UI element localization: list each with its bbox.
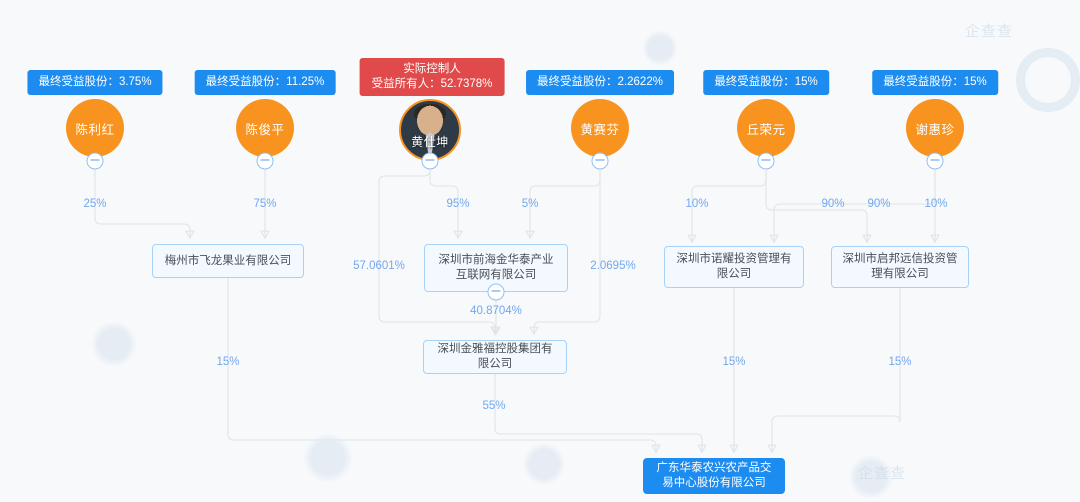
badge-qiu-rongyuan[interactable]: 最终受益股份：15% — [703, 70, 829, 95]
person-node-xie-huizhen[interactable]: 谢惠珍 — [906, 99, 964, 157]
collapse-toggle-huang-shikun[interactable] — [422, 153, 439, 170]
badge-xie-huizhen[interactable]: 最终受益股份：15% — [872, 70, 998, 95]
collapse-toggle-xie-huizhen[interactable] — [927, 153, 944, 170]
badge-huang-saifen[interactable]: 最终受益股份：2.2622% — [526, 70, 674, 95]
avatar-photo — [401, 101, 459, 159]
company-box-qibang[interactable]: 深圳市启邦远信投资管理有限公司 — [831, 246, 969, 288]
company-box-huatai[interactable]: 广东华泰农兴农产品交易中心股份有限公司 — [643, 458, 785, 494]
collapse-toggle-chen-lihong[interactable] — [87, 153, 104, 170]
badge-beneficial-owner-label: 受益所有人：52.7378% — [372, 77, 493, 92]
company-box-jinyafu[interactable]: 深圳金雅福控股集团有限公司 — [423, 340, 567, 374]
person-node-qiu-rongyuan[interactable]: 丘荣元 — [737, 99, 795, 157]
person-node-chen-junping[interactable]: 陈俊平 — [236, 99, 294, 157]
badge-huang-shikun[interactable]: 实际控制人 受益所有人：52.7378% — [360, 58, 505, 96]
badge-chen-lihong[interactable]: 最终受益股份：3.75% — [27, 70, 162, 95]
collapse-toggle-huang-saifen[interactable] — [592, 153, 609, 170]
person-node-chen-lihong[interactable]: 陈利红 — [66, 99, 124, 157]
badge-chen-junping[interactable]: 最终受益股份：11.25% — [195, 70, 336, 95]
collapse-toggle-chen-junping[interactable] — [257, 153, 274, 170]
person-node-huang-saifen[interactable]: 黄赛芬 — [571, 99, 629, 157]
company-box-nuoyao[interactable]: 深圳市诺耀投资管理有限公司 — [664, 246, 804, 288]
collapse-toggle-qiu-rongyuan[interactable] — [758, 153, 775, 170]
equity-structure-graph: 企查查 企查查 — [0, 0, 1080, 494]
company-box-feilong[interactable]: 梅州市飞龙果业有限公司 — [152, 244, 304, 278]
person-name-label: 黄仕坤 — [401, 133, 459, 150]
collapse-toggle-qianhai[interactable] — [488, 284, 505, 301]
badge-actual-controller-label: 实际控制人 — [372, 62, 493, 77]
